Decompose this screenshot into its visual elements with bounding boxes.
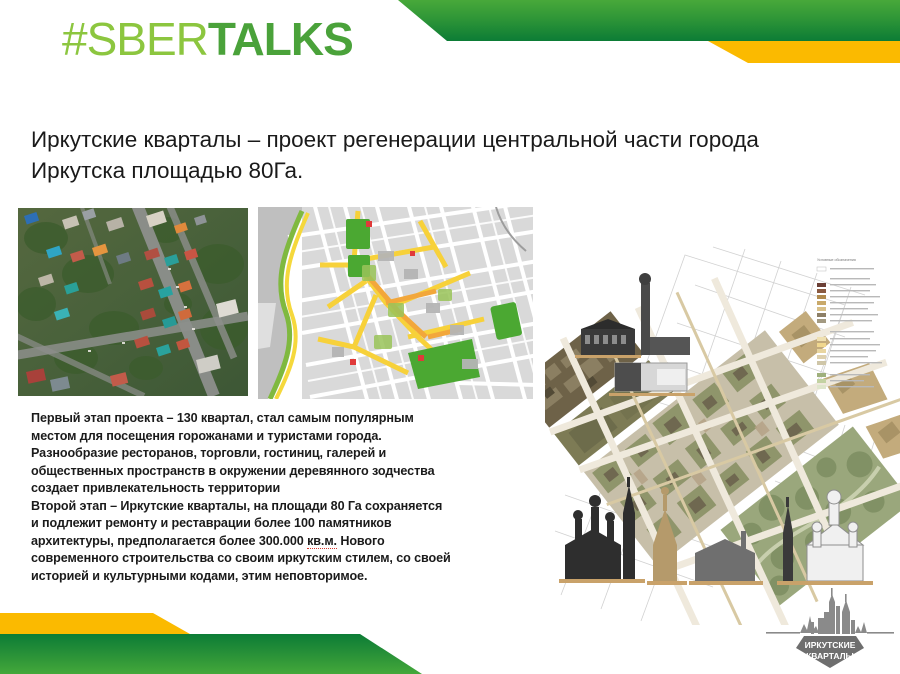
p2-line-3a: архитектуры, предполагается более 300.00… — [31, 534, 307, 548]
page-title-line-1: Иркутские кварталы – проект регенерации … — [31, 124, 871, 155]
spellcheck-flagged-text: кв.м. — [307, 534, 337, 549]
p1-line-5: создает привлекательность территории — [31, 481, 280, 495]
p2-line-2: и подлежит ремонту и реставрации более 1… — [31, 516, 392, 530]
p1-line-3: Разнообразие ресторанов, торговли, гости… — [31, 446, 386, 460]
sbertalks-logo: #SBERTALKS — [62, 16, 353, 62]
street-map — [258, 207, 533, 399]
top-green-banner — [398, 0, 900, 41]
top-yellow-accent — [700, 41, 900, 63]
logo-bold-text: TALKS — [208, 13, 353, 65]
p1-line-2: местом для посещения горожанами и турист… — [31, 429, 382, 443]
p2-line-5: историей и культурными кодами, этим непо… — [31, 569, 367, 583]
logo-line-1: ИРКУТСКИЕ — [805, 640, 856, 650]
masterplan-graphic: Условные обозначения — [545, 245, 900, 625]
p2-line-1: Второй этап – Иркутские кварталы, на пло… — [31, 499, 442, 513]
paragraph-one: Первый этап проекта – 130 квартал, стал … — [31, 410, 531, 498]
page-title: Иркутские кварталы – проект регенерации … — [31, 124, 871, 186]
aerial-photo-graphic — [18, 208, 248, 396]
p1-line-1: Первый этап проекта – 130 квартал, стал … — [31, 411, 414, 425]
page-title-line-2: Иркутска площадью 80Га. — [31, 155, 871, 186]
logo-hash-text: #SBER — [62, 13, 208, 65]
p2-line-4: современного строительства со своим ирку… — [31, 551, 451, 565]
bottom-yellow-accent — [0, 613, 190, 634]
street-map-graphic — [258, 207, 533, 399]
logo-line-2: КВАРТАЛЫ — [806, 651, 854, 661]
body-text: Первый этап проекта – 130 квартал, стал … — [31, 410, 531, 585]
p1-line-4: общественных пространств в окружении дер… — [31, 464, 435, 478]
masterplan-illustration: Условные обозначения — [545, 245, 900, 625]
irkutsk-quarters-logo: ИРКУТСКИЕ КВАРТАЛЫ — [766, 586, 894, 670]
svg-text:Условные обозначения: Условные обозначения — [817, 258, 856, 262]
paragraph-two: Второй этап – Иркутские кварталы, на пло… — [31, 498, 531, 586]
irkutsk-quarters-logo-graphic: ИРКУТСКИЕ КВАРТАЛЫ — [766, 586, 894, 670]
aerial-photo — [18, 208, 248, 396]
bottom-green-banner — [0, 634, 422, 674]
slide-root: #SBERTALKS Иркутские кварталы – проект р… — [0, 0, 900, 674]
p2-line-3c: Нового — [337, 534, 385, 548]
